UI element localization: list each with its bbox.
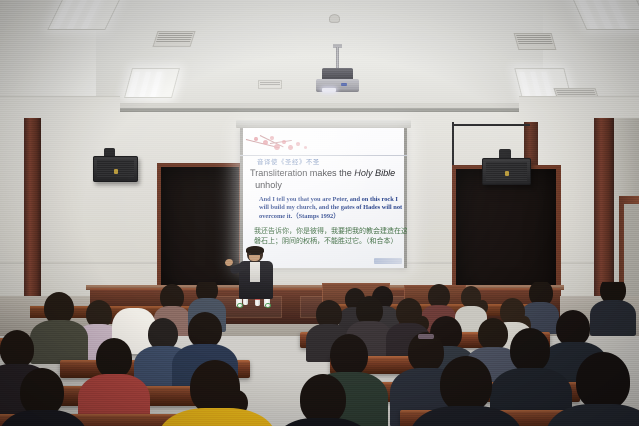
projector-indicator <box>341 83 347 86</box>
wood-pilaster-right <box>594 118 614 308</box>
attendee-body <box>590 300 636 336</box>
attendee-head <box>0 330 34 368</box>
wall-conduit-horizontal <box>452 124 530 126</box>
wall-speaker-right <box>482 158 531 185</box>
presenter-glasses <box>249 254 260 257</box>
wood-pilaster-left <box>24 118 41 308</box>
attendee-head <box>96 338 132 378</box>
lecture-hall-photo: 音译使《圣经》不圣 Transliteration makes the Holy… <box>0 0 639 426</box>
wall-speaker-left <box>93 156 138 182</box>
ceiling <box>0 0 639 118</box>
attendee-head <box>576 352 630 410</box>
speaker-badge <box>505 171 509 176</box>
attendee-head <box>330 334 368 376</box>
projector-lens <box>322 88 336 92</box>
presenter-shirt <box>250 262 260 282</box>
attendee-hair-clip <box>418 334 434 339</box>
attendee-head <box>20 368 64 416</box>
smoke-detector <box>329 14 340 23</box>
air-vent-1 <box>152 31 195 47</box>
attendee-body <box>30 320 88 364</box>
attendee-head <box>510 328 550 372</box>
air-vent-6 <box>258 80 282 89</box>
attendee-head <box>300 374 346 424</box>
speaker-badge <box>114 169 118 174</box>
attendee-head <box>478 318 508 350</box>
audience-area <box>0 282 639 426</box>
attendee-body <box>158 408 276 426</box>
light-panel-2 <box>124 68 180 98</box>
attendee-head <box>440 356 492 412</box>
light-panel-1 <box>47 0 123 30</box>
presenter-hair <box>246 246 264 254</box>
air-vent-3 <box>514 33 557 50</box>
attendee-head <box>188 312 222 348</box>
wall-conduit-vertical <box>452 122 454 168</box>
projection-screen-case <box>236 120 411 128</box>
attendee-head <box>556 310 590 346</box>
